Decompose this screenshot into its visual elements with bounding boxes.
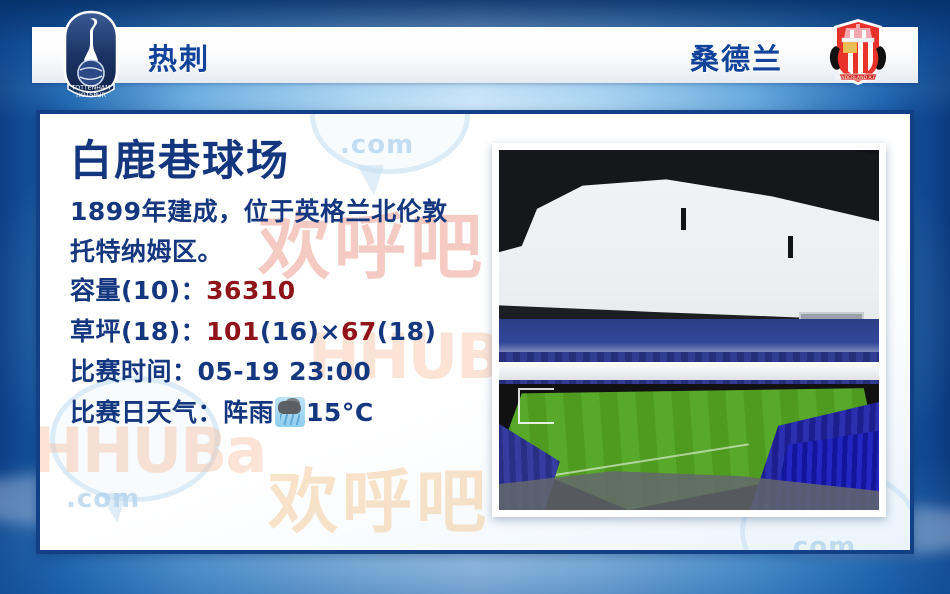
photo-advert-band (499, 362, 879, 380)
match-time-label: 比赛时间： (70, 357, 198, 386)
capacity-value: 36310 (206, 276, 295, 305)
home-team-name: 热刺 (148, 36, 210, 78)
sunderland-afc-crest-icon: SUNDERLAND A.F.C. (820, 16, 896, 88)
svg-text:TOTTENHAM: TOTTENHAM (71, 85, 111, 92)
rain-shower-cloud-icon (275, 397, 305, 427)
stadium-description-line1: 1899年建成，位于英格兰北伦敦 (70, 192, 490, 232)
capacity-row: 容量(10)：36310 (70, 271, 490, 312)
pitch-times-symbol: × (320, 317, 341, 346)
svg-text:HOTSPUR: HOTSPUR (76, 92, 106, 98)
pitch-length: 101 (206, 317, 260, 346)
stadium-photo-frame (492, 143, 886, 517)
match-time-value: 05-19 23:00 (198, 357, 372, 386)
tottenham-hotspur-crest-icon: TOTTENHAM HOTSPUR (60, 10, 122, 98)
photo-goal (518, 388, 554, 424)
watermark-com-left: .com (66, 484, 140, 514)
watermark-com-right: .com (782, 532, 856, 554)
photo-roof-strut-2 (788, 236, 793, 258)
pitch-width: 67 (341, 317, 377, 346)
away-team-name: 桑德兰 (690, 36, 783, 78)
match-time-row: 比赛时间：05-19 23:00 (70, 352, 490, 393)
stadium-title: 白鹿巷球场 (70, 136, 490, 186)
pitch-size-label: 草坪(18)： (70, 317, 206, 346)
svg-text:SUNDERLAND A.F.C.: SUNDERLAND A.F.C. (835, 75, 881, 81)
capacity-label: 容量(10)： (70, 276, 206, 305)
stadium-photo (499, 150, 879, 510)
stadium-text-column: 白鹿巷球场 1899年建成，位于英格兰北伦敦 托特纳姆区。 容量(10)：363… (70, 136, 490, 433)
stadium-description-line2: 托特纳姆区。 (70, 232, 490, 272)
match-weather-label: 比赛日天气： (70, 398, 223, 427)
stadium-info-card: .com .com HHUBa .com HHUBa 欢呼吧 欢呼吧 白鹿巷球场… (36, 110, 914, 554)
match-weather-row: 比赛日天气：阵雨15°C (70, 393, 490, 434)
match-temperature: 15°C (306, 398, 374, 427)
match-weather-value: 阵雨 (223, 398, 274, 427)
pitch-width-rank: (18) (377, 317, 437, 346)
photo-roof-strut-1 (681, 208, 686, 230)
watermark-brand-cn-bottom: 欢呼吧 (268, 446, 490, 547)
pitch-size-row: 草坪(18)：101(16)×67(18) (70, 312, 490, 353)
pitch-length-rank: (16) (260, 317, 320, 346)
